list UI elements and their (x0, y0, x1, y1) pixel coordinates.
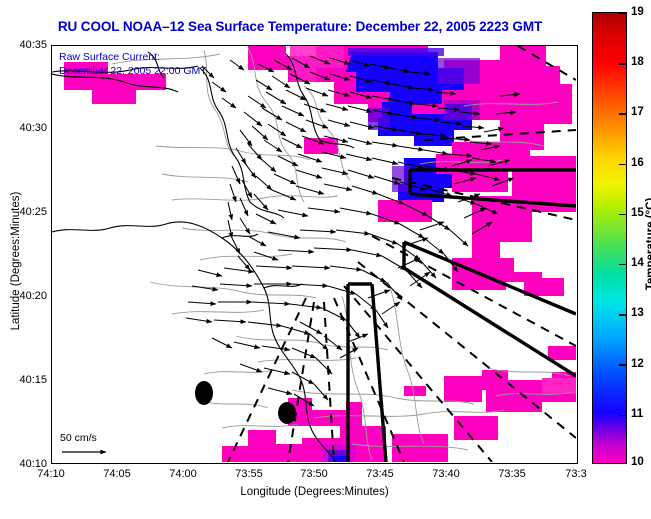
colorbar-tick-4 (619, 214, 627, 215)
colorbar-tick-1 (619, 63, 627, 64)
colorbar-tick-6 (619, 314, 627, 315)
ytick-0: 40:35 (19, 39, 47, 51)
x-axis-title: Longitude (Degrees:Minutes) (51, 486, 578, 498)
xtick-8: 73:3 (565, 468, 586, 480)
colorbar-tick-7 (619, 364, 627, 365)
colorbar-tick-3 (619, 164, 627, 165)
x-axis-ticks: 74:10 74:05 74:00 73:55 73:50 73:45 73:4… (0, 468, 651, 486)
colorbar-label-10: 10 (631, 456, 644, 468)
sst-map-svg (52, 46, 576, 462)
colorbar-gradient (593, 13, 626, 463)
ytick-1: 40:30 (19, 122, 47, 134)
ytick-4: 40:15 (19, 374, 47, 386)
colorbar-label-17: 17 (631, 106, 644, 118)
xtick-7: 73:35 (498, 468, 526, 480)
colorbar-label-15: 15 (631, 207, 644, 219)
sst-raster-layer (64, 46, 576, 462)
xtick-2: 74:00 (169, 468, 197, 480)
y-axis-title: Latitude (Degrees:Minutes) (10, 161, 22, 361)
colorbar-tick-5 (619, 264, 627, 265)
colorbar-label-19: 19 (631, 6, 644, 18)
y-axis-ticks: 40:35 40:30 40:25 40:20 40:15 40:10 (0, 0, 47, 519)
colorbar-label-16: 16 (631, 157, 644, 169)
colorbar-tick-0 (619, 13, 627, 14)
xtick-4: 73:50 (300, 468, 328, 480)
colorbar-label-14: 14 (631, 257, 644, 269)
colorbar-tick-8 (619, 415, 627, 416)
xtick-1: 74:05 (103, 468, 131, 480)
sst-map-plot (51, 45, 578, 464)
xtick-0: 74:10 (37, 468, 65, 480)
temperature-colorbar (592, 12, 627, 464)
ytick-2: 40:25 (19, 206, 47, 218)
xtick-5: 73:45 (366, 468, 394, 480)
xtick-3: 73:55 (235, 468, 263, 480)
colorbar-label-12: 12 (631, 358, 644, 370)
colorbar-label-11: 11 (631, 408, 643, 420)
colorbar-tick-2 (619, 113, 627, 114)
xtick-6: 73:40 (432, 468, 460, 480)
colorbar-title: Temperature (°C) (645, 144, 651, 344)
page-title: RU COOL NOAA–12 Sea Surface Temperature:… (0, 19, 600, 34)
colorbar-label-13: 13 (631, 307, 644, 319)
colorbar-label-18: 18 (631, 56, 644, 68)
colorbar-tick-9 (619, 463, 627, 464)
ytick-3: 40:20 (19, 290, 47, 302)
